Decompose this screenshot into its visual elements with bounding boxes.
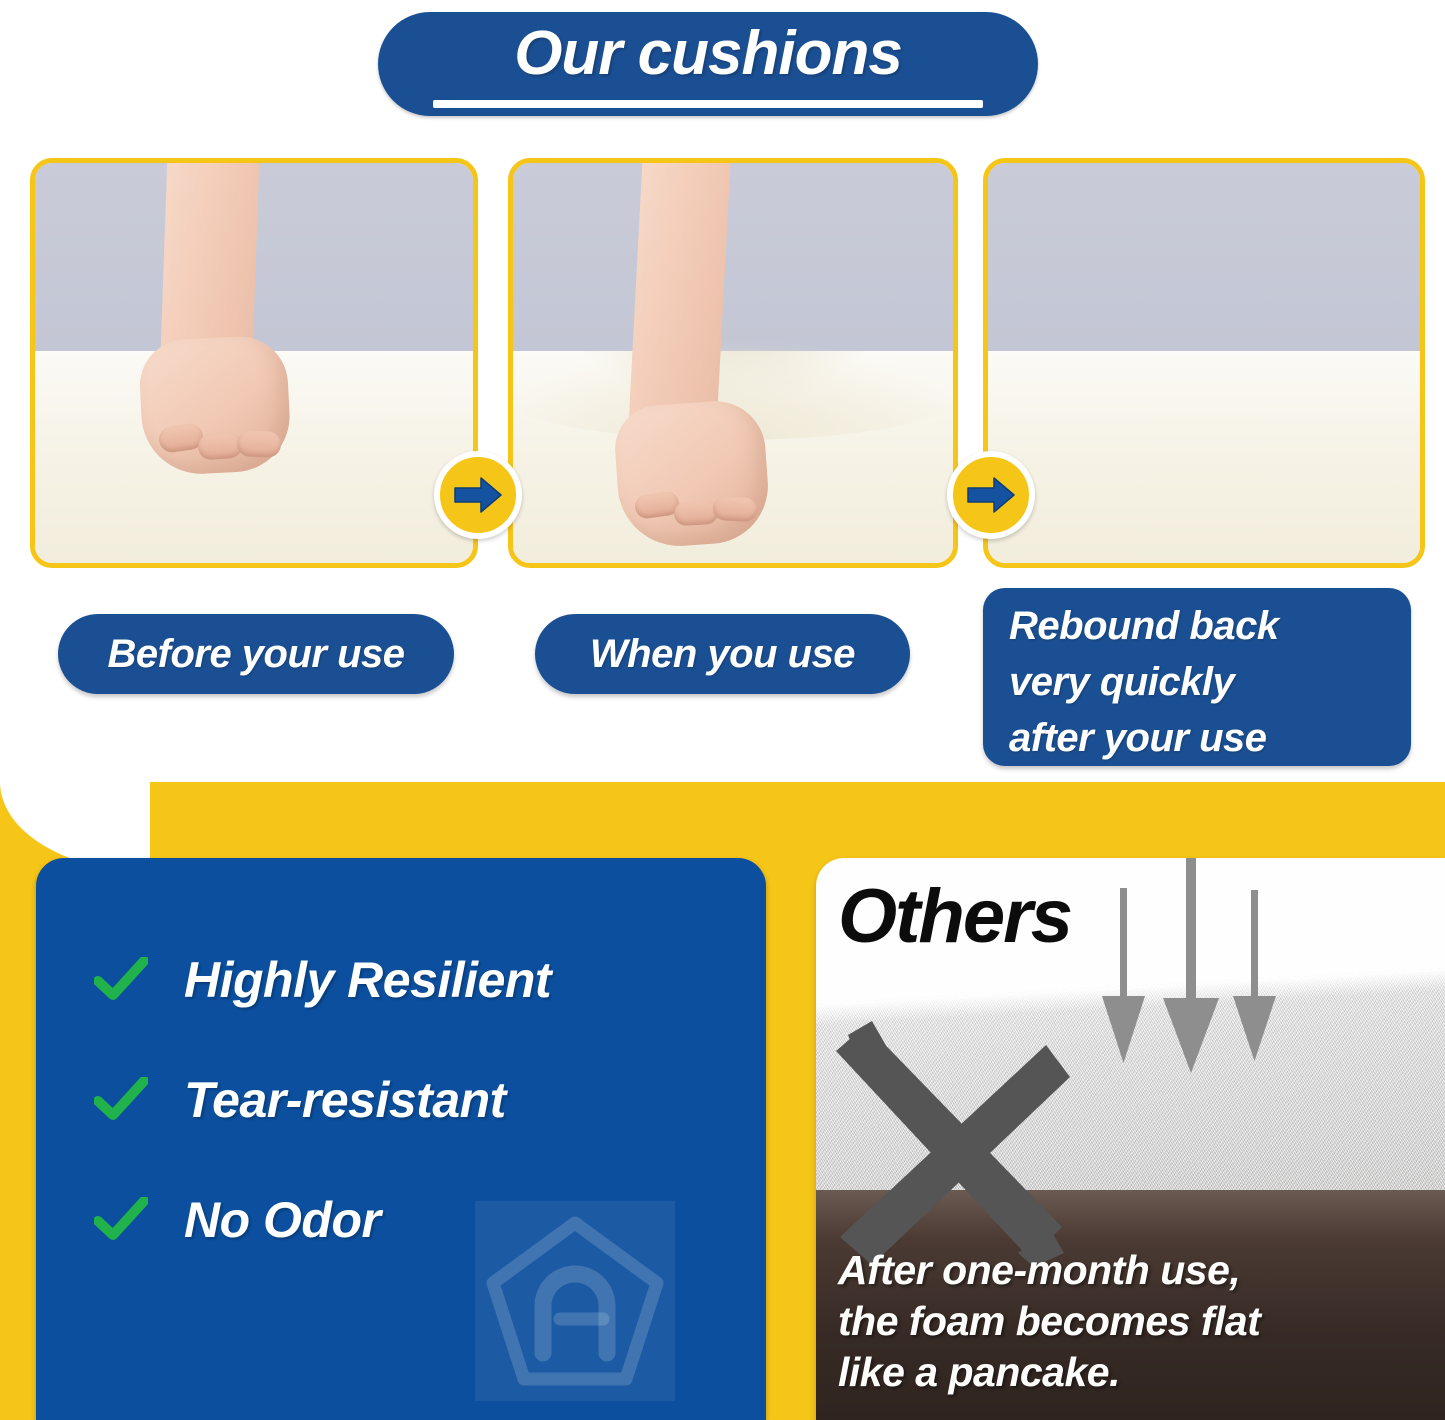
others-title: Others	[838, 874, 1071, 960]
check-icon	[94, 1197, 148, 1243]
knuckle-shape	[237, 430, 282, 458]
card-separator-strip	[766, 858, 816, 1420]
warning-line: After one-month use,	[838, 1245, 1260, 1296]
demo-panel-when	[508, 158, 958, 568]
benefit-label: Tear-resistant	[184, 1071, 506, 1129]
x-cross-icon	[818, 1015, 1078, 1275]
caption-before-your-use: Before your use	[58, 614, 454, 694]
benefit-label: Highly Resilient	[184, 951, 551, 1009]
check-icon	[94, 1077, 148, 1123]
page-title: Our cushions	[378, 18, 1038, 90]
benefit-item-no-odor: No Odor	[94, 1191, 380, 1249]
caption-when-you-use: When you use	[535, 614, 910, 694]
warning-text: After one-month use, the foam becomes fl…	[838, 1245, 1260, 1398]
photo-background	[988, 163, 1420, 351]
arrow-right-icon	[434, 451, 522, 539]
title-underline	[433, 100, 983, 108]
knuckle-shape	[197, 431, 243, 460]
down-arrow-icon	[1088, 858, 1308, 1073]
knuckle-shape	[712, 496, 757, 522]
caption-rebound-back: Rebound back very quickly after your use	[983, 588, 1411, 766]
photo-foam-recovered	[988, 163, 1420, 563]
benefits-card: Highly Resilient Tear-resistant No Odor	[36, 858, 766, 1420]
demo-panel-rebound	[983, 158, 1425, 568]
demo-panel-row	[0, 150, 1445, 570]
benefit-item-highly-resilient: Highly Resilient	[94, 951, 551, 1009]
photo-fist-on-foam	[35, 163, 473, 563]
foam-surface-smooth	[988, 351, 1420, 563]
caption-line: Rebound back	[1009, 598, 1411, 654]
caption-line: after your use	[1009, 710, 1411, 766]
warning-line: like a pancake.	[838, 1347, 1260, 1398]
knuckle-shape	[673, 500, 718, 526]
benefit-item-tear-resistant: Tear-resistant	[94, 1071, 506, 1129]
page-title-banner: Our cushions	[378, 12, 1038, 116]
photo-fist-pressing-foam	[513, 163, 953, 563]
photo-background	[513, 163, 953, 351]
check-icon	[94, 957, 148, 1003]
demo-panel-before	[30, 158, 478, 568]
caption-text: Before your use	[107, 632, 404, 677]
warning-line: the foam becomes flat	[838, 1296, 1260, 1347]
pentagon-a-logo-icon	[475, 1201, 675, 1401]
benefit-label: No Odor	[184, 1191, 380, 1249]
arrow-right-icon	[947, 451, 1035, 539]
caption-text: When you use	[590, 632, 855, 677]
caption-line: very quickly	[1009, 654, 1411, 710]
fist-shape	[612, 398, 772, 550]
